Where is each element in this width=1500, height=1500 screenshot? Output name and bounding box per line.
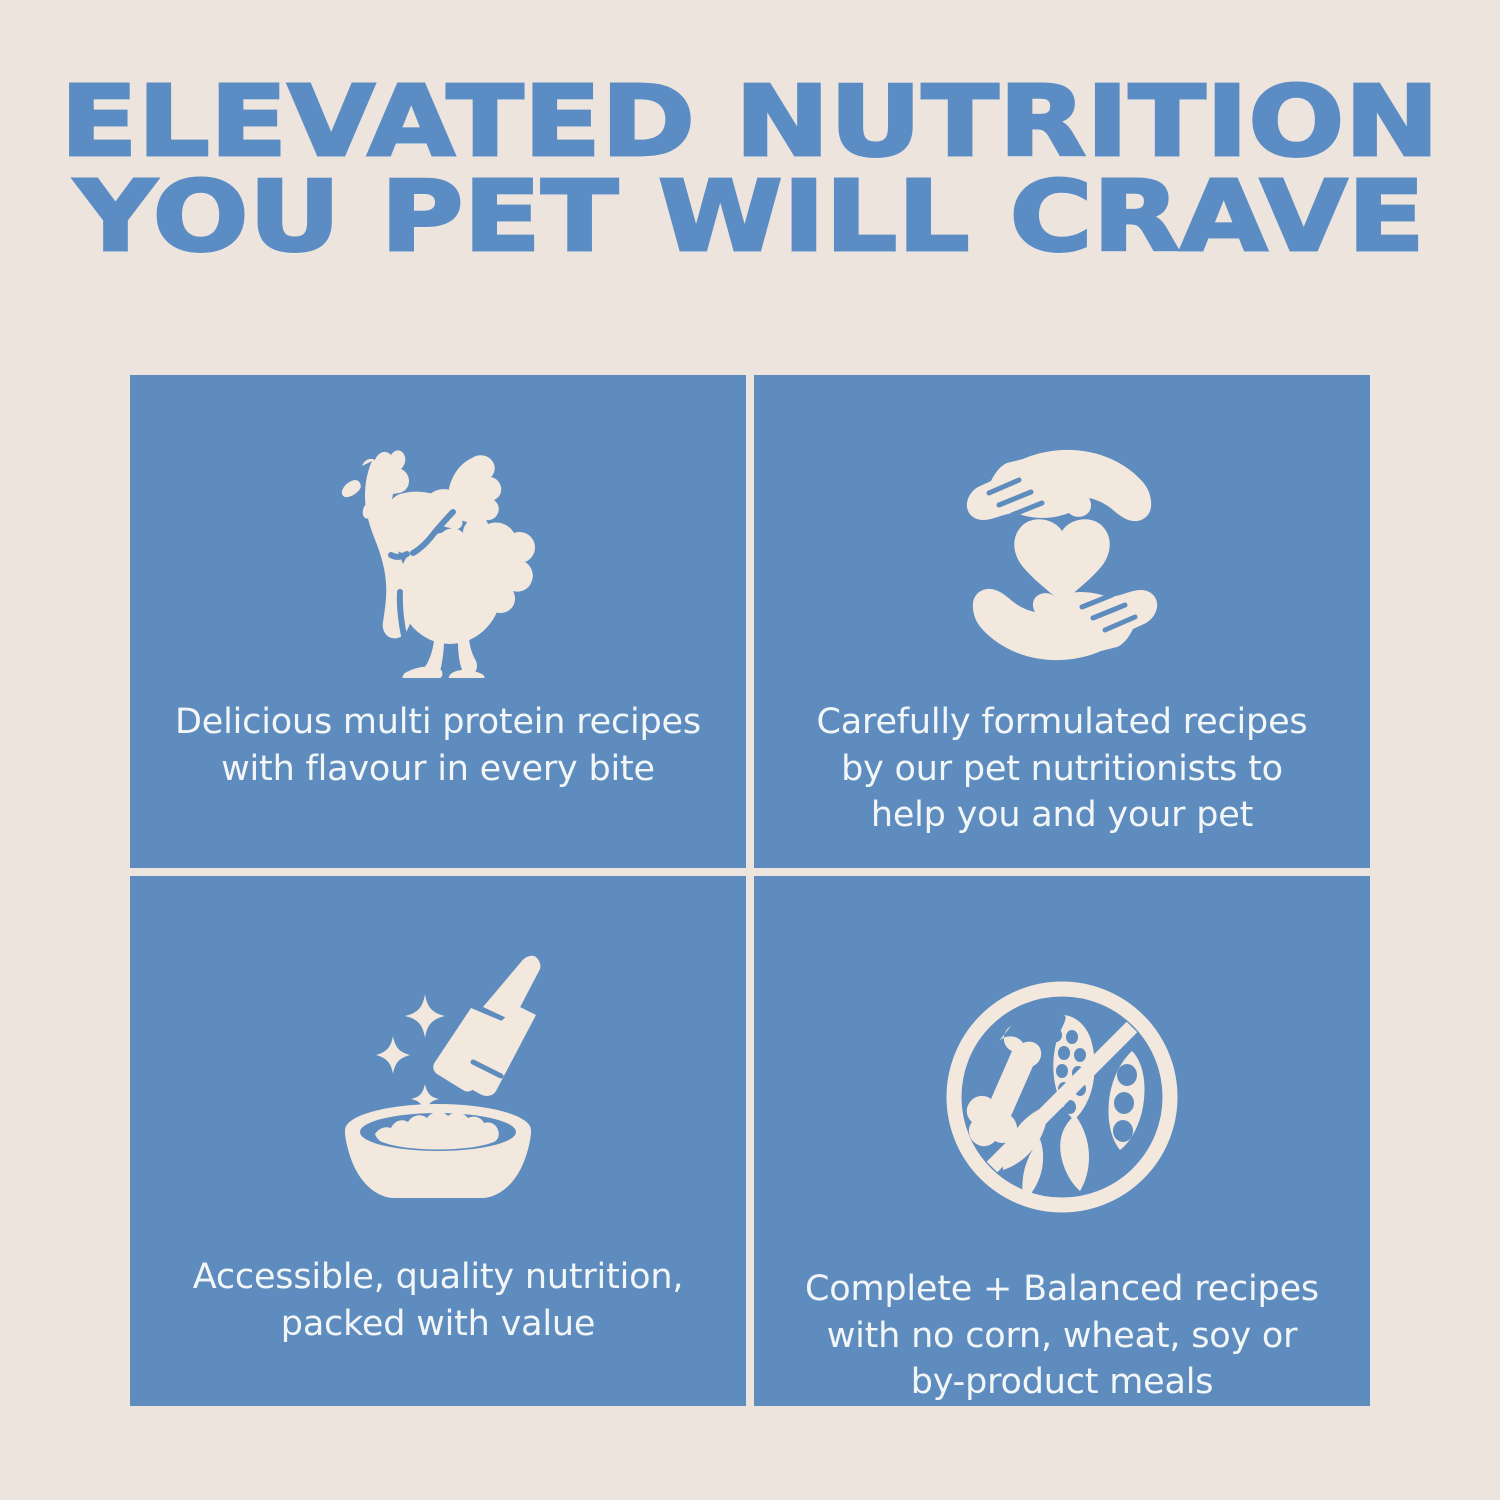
feature-card-value: Accessible, quality nutrition, packed wi… xyxy=(130,876,746,1406)
feature-caption: Complete + Balanced recipes with no corn… xyxy=(771,1266,1353,1406)
page-title: ELEVATED NUTRITION YOU PET WILL CRAVE xyxy=(0,76,1500,262)
chicken-turkey-icon xyxy=(130,375,746,693)
feature-card-protein: Delicious multi protein recipes with fla… xyxy=(130,375,746,868)
feature-caption: Accessible, quality nutrition, packed wi… xyxy=(159,1254,718,1347)
feature-card-formulated: Carefully formulated recipes by our pet … xyxy=(754,375,1370,868)
pet-bowl-sparkle-icon xyxy=(130,876,746,1234)
headline-line-2: YOU PET WILL CRAVE xyxy=(0,171,1500,262)
feature-card-no-fillers: Complete + Balanced recipes with no corn… xyxy=(754,876,1370,1406)
feature-caption: Delicious multi protein recipes with fla… xyxy=(141,699,735,792)
hands-holding-heart-icon xyxy=(754,375,1370,693)
feature-caption: Carefully formulated recipes by our pet … xyxy=(783,699,1342,839)
promo-infographic: ELEVATED NUTRITION YOU PET WILL CRAVE xyxy=(0,0,1500,1500)
headline-line-1: ELEVATED NUTRITION xyxy=(0,76,1500,167)
no-corn-wheat-soy-icon xyxy=(754,876,1370,1248)
feature-grid: Delicious multi protein recipes with fla… xyxy=(130,375,1370,1398)
